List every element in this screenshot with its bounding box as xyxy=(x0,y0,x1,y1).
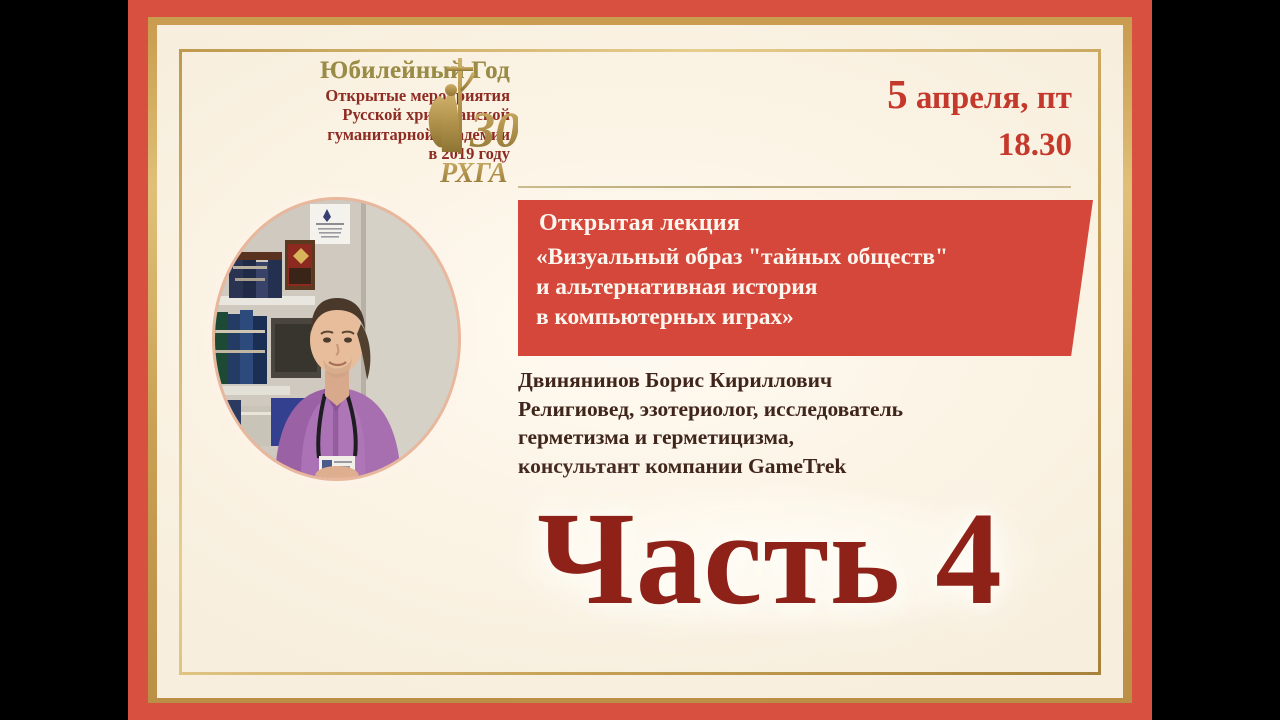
banner-kicker: Открытая лекция xyxy=(539,209,1093,237)
slide-root: Юбилейный Год Открытые мероприятия Русск… xyxy=(0,0,1280,720)
lecture-banner: Открытая лекция «Визуальный образ "тайны… xyxy=(518,200,1093,356)
speaker-credentials-line-1: Религиовед, эзотериолог, исследователь xyxy=(518,395,1078,424)
banner-title-line-1: «Визуальный образ "тайных обществ" xyxy=(536,243,1093,273)
speaker-name: Двинянинов Борис Кириллович xyxy=(518,366,1078,395)
part-title: Часть 4 xyxy=(440,478,1100,638)
banner-title-line-3: в компьютерных играх» xyxy=(536,303,1093,333)
speaker-credentials-line-3: консультант компании GameTrek xyxy=(518,452,1078,481)
speaker-credentials-line-2: герметизма и герметицизма, xyxy=(518,423,1078,452)
svg-text:30: 30 xyxy=(469,101,518,157)
event-date-block: 5 апреля, пт 18.30 xyxy=(640,74,1072,184)
speaker-info: Двинянинов Борис Кириллович Религиовед, … xyxy=(518,366,1078,480)
event-date-day: 5 xyxy=(887,71,908,117)
event-date: 5 апреля, пт xyxy=(640,74,1072,115)
event-time: 18.30 xyxy=(640,129,1072,162)
banner-title: «Визуальный образ "тайных обществ" и аль… xyxy=(536,243,1093,333)
header-divider xyxy=(518,186,1071,188)
event-date-month-weekday: апреля, пт xyxy=(908,80,1072,116)
svg-text:РХГА: РХГА xyxy=(439,158,508,189)
banner-title-line-2: и альтернативная история xyxy=(536,273,1093,303)
speaker-portrait-photo xyxy=(215,200,458,478)
angel-with-cross-icon: 30 РХГА xyxy=(418,52,518,192)
